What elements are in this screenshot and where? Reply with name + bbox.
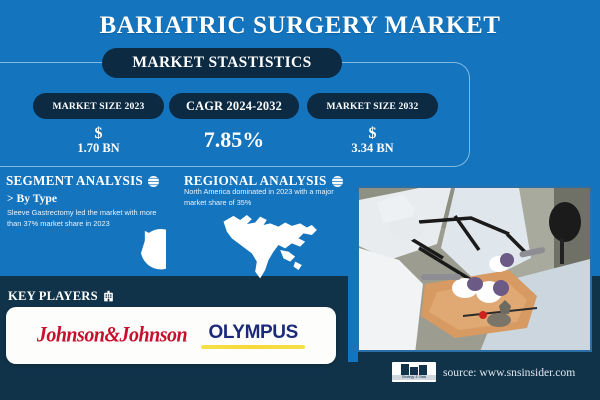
stat-label-market-size-2032: MARKET SIZE 2032 <box>307 93 438 119</box>
olympus-logo: OLYMPUS <box>201 322 305 349</box>
north-america-map-icon <box>206 205 336 285</box>
stat-label-market-size-2023: MARKET SIZE 2023 <box>33 93 164 119</box>
source-text: source: www.snsinsider.com <box>443 366 575 379</box>
market-statistics-title: MARKET STASTISTICS <box>102 48 342 78</box>
source-row: Strategy & Stats source: www.snsinsider.… <box>392 362 575 382</box>
olympus-underline <box>201 345 305 349</box>
key-players-heading-text: KEY PLAYERS <box>8 289 98 304</box>
infographic-canvas: BARIATRIC SURGERY MARKET MARKET STASTIST… <box>0 0 600 400</box>
surgery-illustration <box>359 188 592 352</box>
sns-insider-logo: Strategy & Stats <box>392 362 436 382</box>
stat-number-2023: 1.70 BN <box>33 142 164 156</box>
segment-analysis-heading-text: SEGMENT ANALYSIS <box>6 173 143 189</box>
key-players-card: Johnson&Johnson OLYMPUS <box>6 307 336 364</box>
sns-logo-caption: Strategy & Stats <box>392 375 436 380</box>
currency-symbol-2032: $ <box>307 125 438 142</box>
globe-icon <box>331 175 344 188</box>
laparoscopic-surgery-photo <box>357 186 592 352</box>
segment-analysis-heading: SEGMENT ANALYSIS <box>6 173 160 189</box>
stat-value-market-size-2032: $ 3.34 BN <box>307 125 438 156</box>
pie-chart-icon <box>116 228 166 276</box>
stat-number-2032: 3.34 BN <box>307 142 438 156</box>
sns-logo-mark <box>401 364 427 375</box>
page-title: BARIATRIC SURGERY MARKET <box>0 12 600 40</box>
globe-icon <box>147 175 160 188</box>
segment-subheading: > By Type <box>7 192 57 205</box>
stat-value-market-size-2023: $ 1.70 BN <box>33 125 164 156</box>
building-icon <box>102 290 115 303</box>
johnson-and-johnson-logo: Johnson&Johnson <box>37 323 187 349</box>
olympus-wordmark: OLYMPUS <box>208 322 297 344</box>
stat-value-cagr: 7.85% <box>169 128 299 152</box>
segment-analysis-body: Sleeve Gastrectomy led the market with m… <box>7 207 157 229</box>
currency-symbol-2023: $ <box>33 125 164 142</box>
stat-label-cagr: CAGR 2024-2032 <box>169 93 299 119</box>
key-players-heading: KEY PLAYERS <box>8 289 115 304</box>
